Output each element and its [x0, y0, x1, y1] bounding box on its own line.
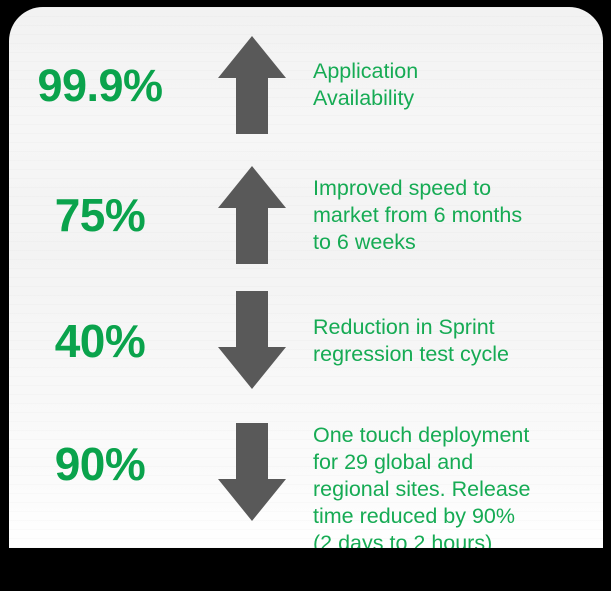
metric-row: 90% One touch deployment for 29 global a…: [9, 403, 603, 548]
metric-value: 99.9%: [9, 63, 191, 108]
metric-description: Improved speed to market from 6 months t…: [313, 175, 603, 256]
metric-value: 90%: [9, 441, 191, 487]
metric-row: 75% Improved speed to market from 6 mont…: [9, 151, 603, 279]
metric-row: 99.9% Application Availability: [9, 19, 603, 151]
arrow-down-icon: [216, 291, 288, 391]
metrics-list: 99.9% Application Availability 75%: [9, 7, 603, 548]
arrow-up-icon: [216, 164, 288, 266]
arrow-down-icon: [216, 423, 288, 523]
metric-description: Reduction in Sprint regression test cycl…: [313, 314, 603, 368]
metric-arrow-cell: [191, 34, 313, 136]
metric-description: Application Availability: [313, 58, 603, 112]
metric-arrow-cell: [191, 423, 313, 523]
metric-description: One touch deployment for 29 global and r…: [313, 422, 603, 548]
metric-value: 75%: [9, 192, 191, 238]
metric-value: 40%: [9, 318, 191, 364]
metrics-card: 99.9% Application Availability 75%: [9, 7, 603, 548]
metric-row: 40% Reduction in Sprint regression test …: [9, 279, 603, 403]
arrow-up-icon: [216, 34, 288, 136]
infographic-stage: 99.9% Application Availability 75%: [0, 0, 611, 591]
metric-arrow-cell: [191, 291, 313, 391]
metric-arrow-cell: [191, 164, 313, 266]
